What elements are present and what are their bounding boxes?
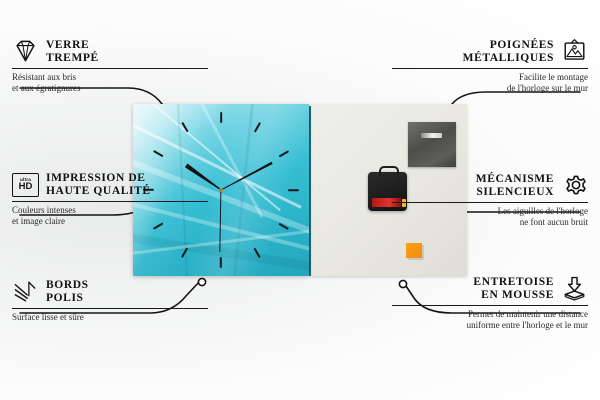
feature-subtitle-line2: de l'horloge sur le mur bbox=[392, 83, 588, 94]
feature-title-line1: IMPRESSION DE bbox=[46, 172, 208, 185]
feature-bords-polis: BORDS POLIS Surface lisse et sûre bbox=[12, 278, 208, 323]
feature-divider bbox=[392, 202, 588, 203]
feature-divider bbox=[12, 308, 208, 309]
feature-subtitle-line2: ne font aucun bruit bbox=[392, 217, 588, 228]
feature-title-line2: SILENCIEUX bbox=[392, 186, 554, 199]
feature-title-line2: POLIS bbox=[46, 292, 208, 305]
ultra-hd-icon: ultra HD bbox=[12, 173, 39, 197]
feature-title-line2: TREMPÉ bbox=[46, 52, 208, 65]
feature-subtitle-line1: Couleurs intenses bbox=[12, 205, 208, 216]
clock-tick bbox=[220, 112, 222, 123]
feature-divider bbox=[12, 68, 208, 69]
feature-subtitle-line1: Permet de maintenir une distance bbox=[392, 309, 588, 320]
feature-title-line1: VERRE bbox=[46, 39, 208, 52]
feature-subtitle-line2: et aux égratignures bbox=[12, 83, 208, 94]
diamond-icon bbox=[12, 38, 39, 65]
feature-title-line1: BORDS bbox=[46, 279, 208, 292]
metal-hanger-part bbox=[408, 122, 456, 167]
feature-subtitle-line1: Les aiguilles de l'horloge bbox=[392, 206, 588, 217]
gear-icon bbox=[561, 172, 588, 199]
feature-divider bbox=[392, 68, 588, 69]
feature-title-line1: POIGNÉES bbox=[392, 39, 554, 52]
feature-title-line2: HAUTE QUALITÉ bbox=[46, 185, 208, 198]
feature-divider bbox=[12, 201, 208, 202]
ultra-hd-large-label: HD bbox=[19, 182, 33, 192]
feature-subtitle-line2: et image claire bbox=[12, 216, 208, 227]
infographic-canvas: VERRE TREMPÉ Résistant aux bris et aux é… bbox=[0, 0, 600, 400]
feature-title-line1: MÉCANISME bbox=[392, 173, 554, 186]
feature-impression-haute-qualite: ultra HD IMPRESSION DE HAUTE QUALITÉ Cou… bbox=[12, 172, 208, 226]
feature-entretoise-en-mousse: ENTRETOISE EN MOUSSE Permet de maintenir… bbox=[392, 275, 588, 330]
feature-title-line2: MÉTALLIQUES bbox=[392, 52, 554, 65]
clock-tick bbox=[288, 189, 299, 191]
feature-subtitle-line1: Résistant aux bris bbox=[12, 72, 208, 83]
feature-divider bbox=[392, 305, 588, 306]
clock-center-pin bbox=[219, 188, 223, 192]
foam-spacer-icon bbox=[561, 275, 588, 302]
feature-subtitle-line1: Surface lisse et sûre bbox=[12, 312, 208, 323]
feature-subtitle-line2: uniforme entre l'horloge et le mur bbox=[392, 320, 588, 331]
clock-tick bbox=[220, 257, 222, 268]
feature-title-line2: EN MOUSSE bbox=[392, 289, 554, 302]
picture-frame-icon bbox=[561, 38, 588, 65]
polished-edges-icon bbox=[12, 278, 39, 305]
feature-verre-trempe: VERRE TREMPÉ Résistant aux bris et aux é… bbox=[12, 38, 208, 93]
feature-subtitle-line1: Facilite le montage bbox=[392, 72, 588, 83]
feature-mecanisme-silencieux: MÉCANISME SILENCIEUX Les aiguilles de l'… bbox=[392, 172, 588, 227]
feature-title-line1: ENTRETOISE bbox=[392, 276, 554, 289]
feature-poignees-metalliques: POIGNÉES MÉTALLIQUES Facilite le montage… bbox=[392, 38, 588, 93]
hanger-slot bbox=[421, 133, 442, 138]
foam-spacer-part bbox=[406, 243, 422, 258]
